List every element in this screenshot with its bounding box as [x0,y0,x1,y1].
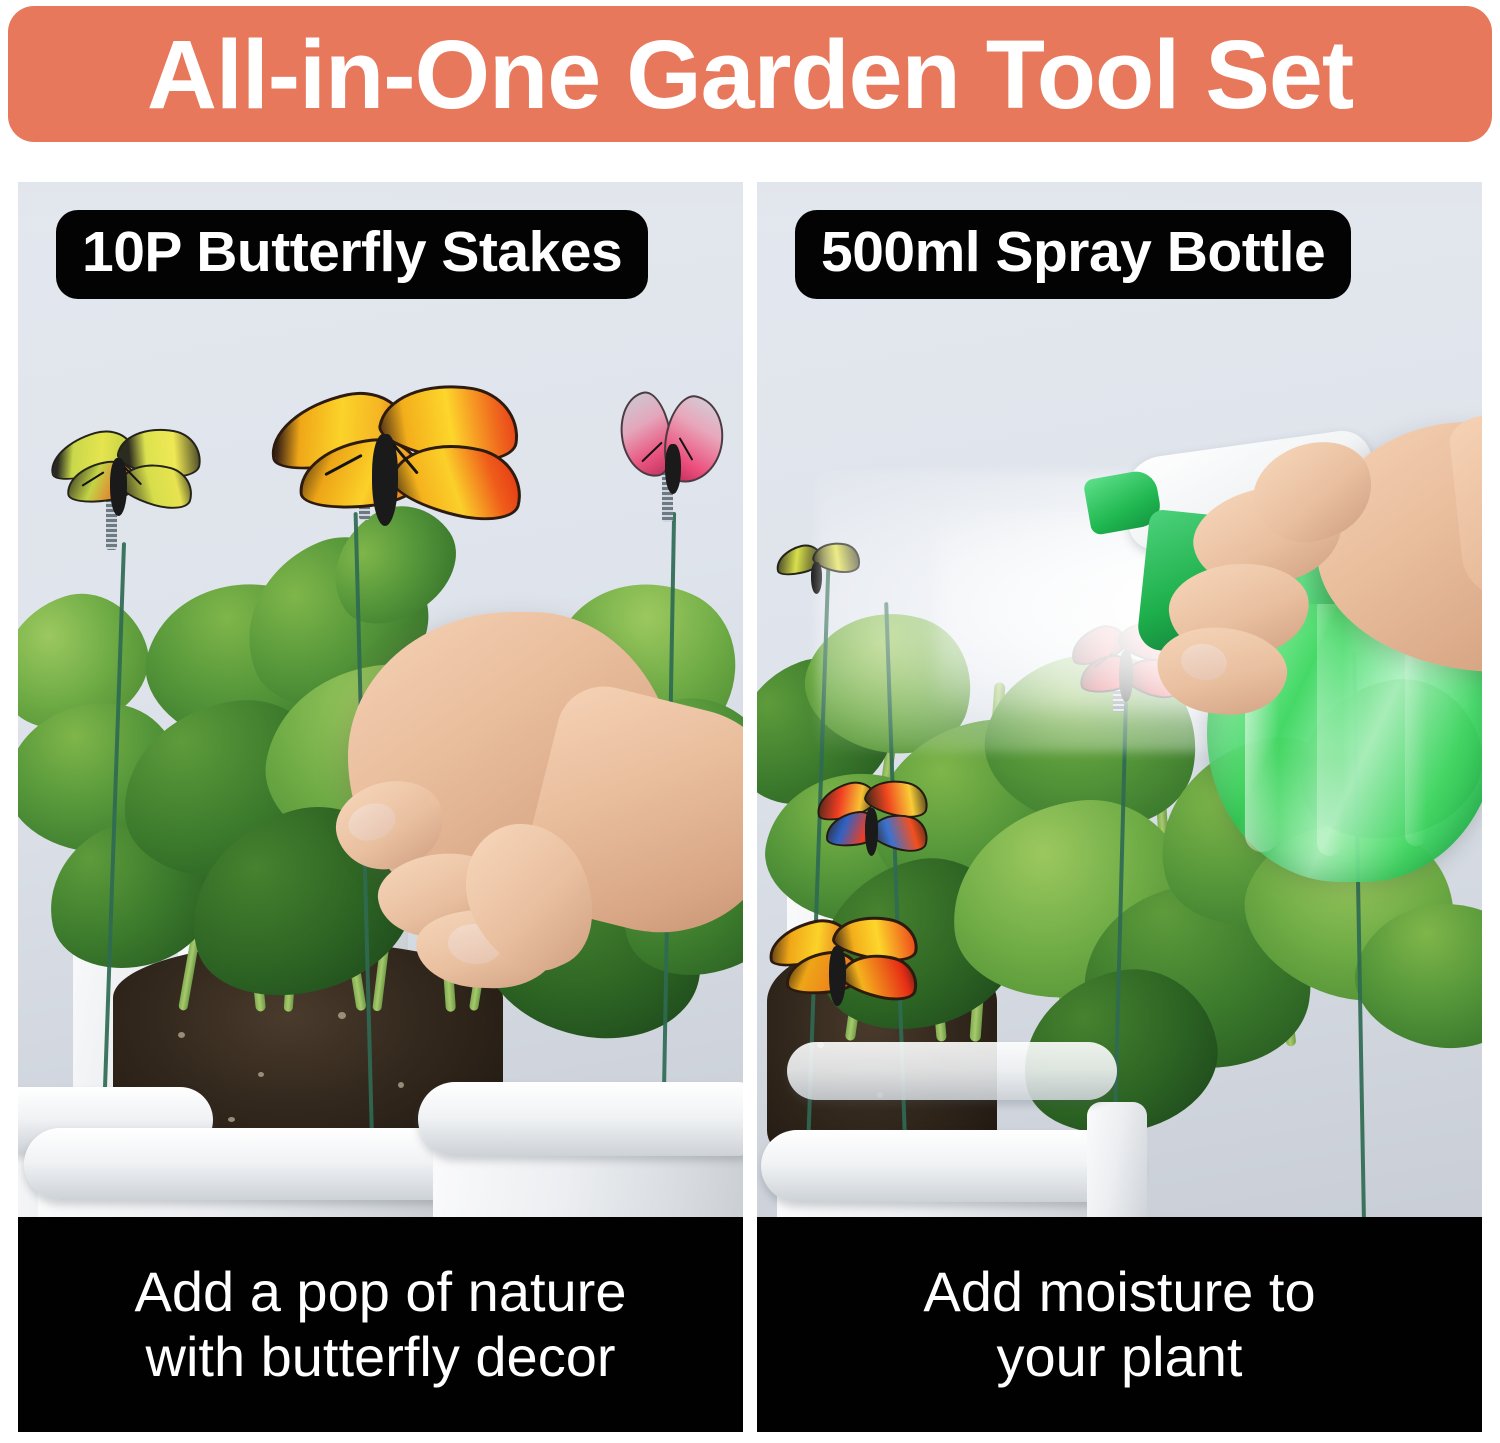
header-banner: All-in-One Garden Tool Set [8,6,1492,142]
caption-spray-bottle: Add moisture to your plant [757,1217,1482,1432]
caption-line-1: Add a pop of nature [135,1260,627,1325]
panel-spray-bottle: 500ml Spray Bottle Add moisture to your … [757,182,1482,1432]
soil-fleck [258,1072,264,1077]
badge-label: 500ml Spray Bottle [821,224,1325,281]
soil-fleck [398,1082,404,1088]
photo-spray-bottle [757,182,1482,1228]
butterfly-stake-orange [268,378,538,553]
page-title: All-in-One Garden Tool Set [147,26,1353,123]
butterfly-body [665,444,681,494]
butterfly-stake-multicolor [815,780,935,870]
planter-pot-front-right [1087,1102,1147,1228]
badge-butterfly-stakes: 10P Butterfly Stakes [56,210,648,299]
soil-fleck [338,1012,346,1019]
soil-fleck [178,1032,185,1038]
butterfly-body [829,946,846,1006]
caption-butterfly-stakes: Add a pop of nature with butterfly decor [18,1217,743,1432]
butterfly-body [1119,650,1133,702]
photo-butterfly-stakes [18,182,743,1228]
panel-grid: 10P Butterfly Stakes Add a pop of nature… [0,182,1500,1443]
planter-rim-front-center [24,1128,476,1200]
bottle-highlight [1317,594,1343,856]
badge-label: 10P Butterfly Stakes [82,224,622,281]
soil-fleck [228,1117,235,1122]
badge-spray-bottle: 500ml Spray Bottle [795,210,1351,299]
butterfly-stake-pink [613,392,743,517]
caption-line-1: Add moisture to [923,1260,1315,1325]
butterfly-body [865,808,878,856]
caption-line-2: your plant [997,1325,1243,1390]
butterfly-stake-yellow [48,420,218,535]
planter-rim-upper [787,1042,1117,1100]
planter-rim-front [761,1130,1143,1202]
panel-butterfly-stakes: 10P Butterfly Stakes Add a pop of nature… [18,182,743,1432]
butterfly-body [811,562,822,594]
caption-line-2: with butterfly decor [146,1325,616,1390]
butterfly-stake-orange [767,912,927,1022]
butterfly-stake-yellow-small [775,540,863,602]
planter-rim-front-right [418,1082,743,1156]
